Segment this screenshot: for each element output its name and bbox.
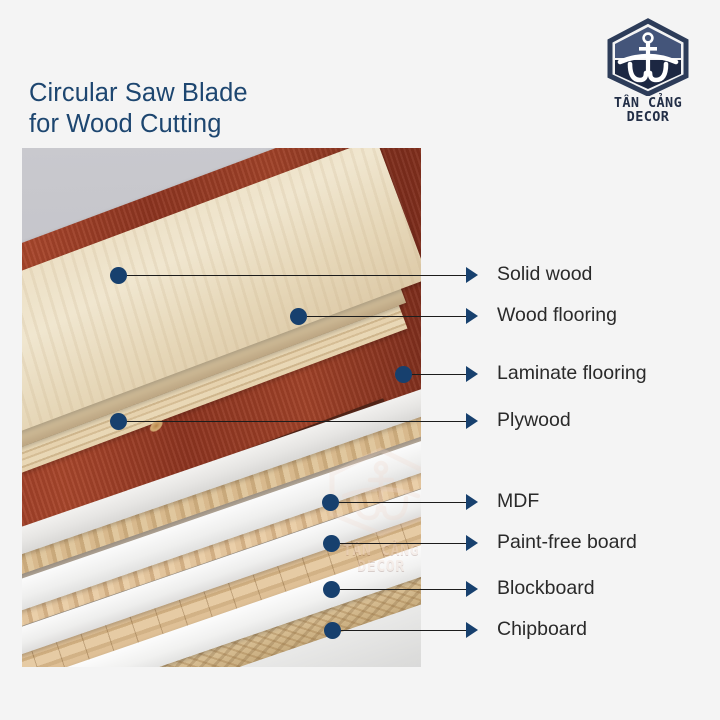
callout-label-wood-flooring: Wood flooring — [497, 306, 617, 326]
callout-dot-blockboard — [323, 581, 340, 598]
callout-label-chipboard: Chipboard — [497, 620, 587, 640]
callout-label-blockboard: Blockboard — [497, 579, 595, 599]
brand-name-line1: TÂN CẢNG — [600, 96, 696, 110]
callout-dot-plywood — [110, 413, 127, 430]
callout-dot-mdf — [322, 494, 339, 511]
callout-arrow-chipboard — [466, 622, 478, 638]
page-title: Circular Saw Blade for Wood Cutting — [29, 78, 248, 140]
callout-label-plywood: Plywood — [497, 411, 571, 431]
anchor-shield-icon — [600, 18, 696, 96]
callout-arrow-laminate-flooring — [466, 366, 478, 382]
callout-label-solid-wood: Solid wood — [497, 265, 592, 285]
callout-dot-laminate-flooring — [395, 366, 412, 383]
callout-arrow-plywood — [466, 413, 478, 429]
callout-line-blockboard — [340, 589, 466, 590]
callout-dot-chipboard — [324, 622, 341, 639]
callout-arrow-solid-wood — [466, 267, 478, 283]
callout-arrow-mdf — [466, 494, 478, 510]
brand-logo: TÂN CẢNG DECOR — [600, 18, 696, 126]
callout-line-chipboard — [341, 630, 466, 631]
callout-arrow-blockboard — [466, 581, 478, 597]
callout-line-paint-free-board — [340, 543, 466, 544]
callout-line-wood-flooring — [307, 316, 466, 317]
callout-dot-wood-flooring — [290, 308, 307, 325]
callout-dot-solid-wood — [110, 267, 127, 284]
callout-line-laminate-flooring — [412, 374, 466, 375]
callout-label-mdf: MDF — [497, 492, 539, 512]
callout-arrow-wood-flooring — [466, 308, 478, 324]
callout-dot-paint-free-board — [323, 535, 340, 552]
callout-line-plywood — [127, 421, 466, 422]
callout-label-laminate-flooring: Laminate flooring — [497, 364, 647, 384]
callout-label-paint-free-board: Paint-free board — [497, 533, 637, 553]
brand-name-line2: DECOR — [600, 110, 696, 124]
callout-line-solid-wood — [127, 275, 466, 276]
callout-arrow-paint-free-board — [466, 535, 478, 551]
callout-line-mdf — [339, 502, 466, 503]
